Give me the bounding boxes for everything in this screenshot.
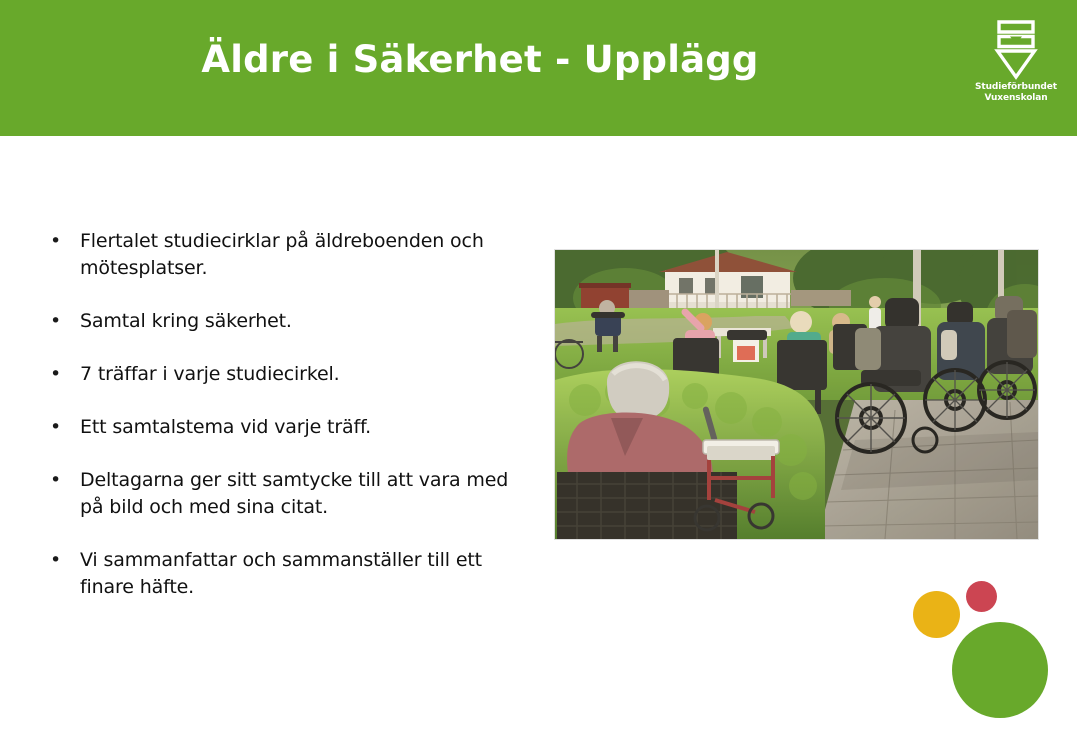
presentation-slide: Äldre i Säkerhet - Upplägg Studieförbund… [0,0,1077,738]
list-item: • Vi sammanfattar och sammanställer till… [46,547,526,601]
list-item: • 7 träffar i varje studiecirkel. [46,361,526,388]
bullet-marker-icon: • [46,361,80,388]
list-item: • Flertalet studiecirklar på äldreboende… [46,228,526,282]
bullet-list: • Flertalet studiecirklar på äldreboende… [46,228,526,601]
logo-wordmark: Studieförbundet Vuxenskolan [966,82,1066,104]
list-item-text: Deltagarna ger sitt samtycke till att va… [80,467,526,521]
list-item: • Samtal kring säkerhet. [46,308,526,335]
bullet-marker-icon: • [46,228,80,255]
studieforbundet-vuxenskolan-logo: Studieförbundet Vuxenskolan [966,18,1066,114]
outdoor-group-photo [555,250,1038,539]
list-item-text: 7 träffar i varje studiecirkel. [80,361,526,388]
list-item-text: Samtal kring säkerhet. [80,308,526,335]
bullet-marker-icon: • [46,414,80,441]
sv-monogram-icon [986,18,1046,80]
list-item-text: Ett samtalstema vid varje träff. [80,414,526,441]
bullet-marker-icon: • [46,467,80,494]
logo-wordmark-line2: Vuxenskolan [966,93,1066,104]
page-title: Äldre i Säkerhet - Upplägg [0,38,960,82]
list-item-text: Vi sammanfattar och sammanställer till e… [80,547,526,601]
deco-circle-red [966,581,997,612]
deco-circle-green [952,622,1048,718]
list-item: • Deltagarna ger sitt samtycke till att … [46,467,526,521]
logo-wordmark-line1: Studieförbundet [975,82,1057,92]
bullet-marker-icon: • [46,547,80,574]
list-item-text: Flertalet studiecirklar på äldreboenden … [80,228,526,282]
list-item: • Ett samtalstema vid varje träff. [46,414,526,441]
deco-circle-yellow [913,591,960,638]
bullet-marker-icon: • [46,308,80,335]
